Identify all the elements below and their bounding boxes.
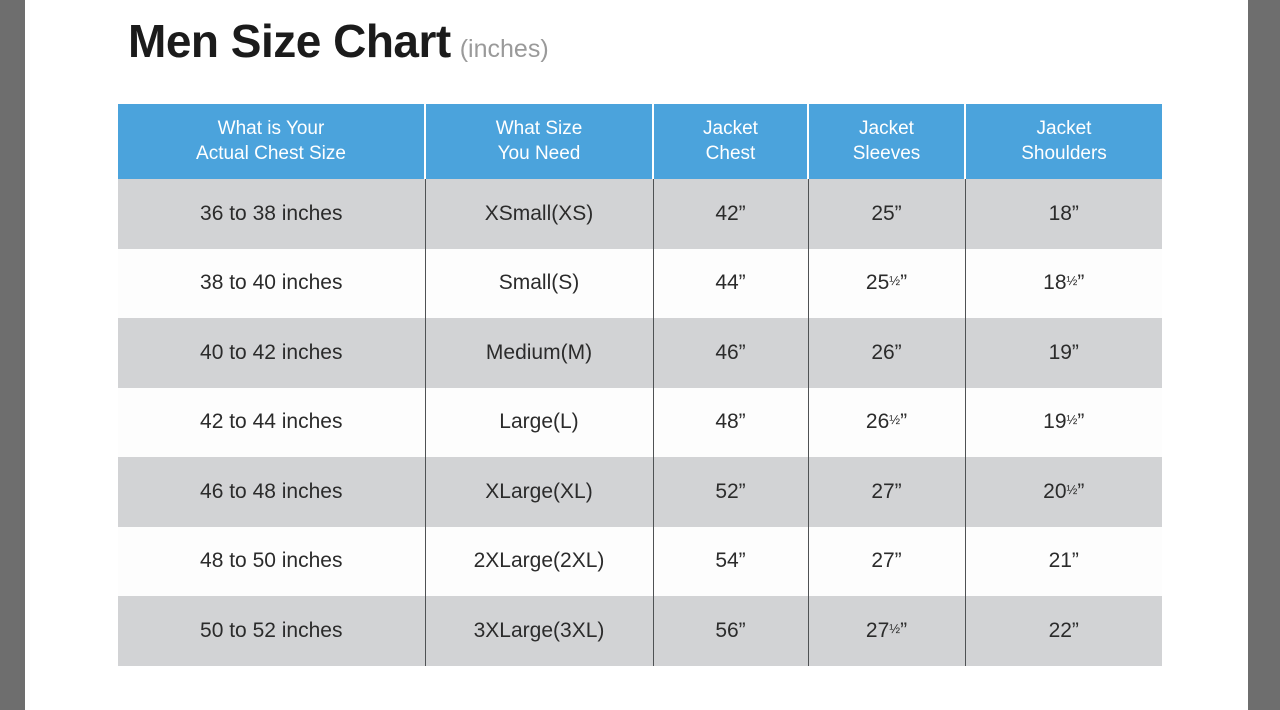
cell-jacket-sleeves: 27” (808, 457, 965, 527)
cell-jacket-shoulders: 20½” (965, 457, 1162, 527)
column-header-line1: Jacket (658, 116, 803, 141)
cell-jacket-shoulders: 18” (965, 179, 1162, 249)
column-header-size-you-need: What Size You Need (425, 104, 653, 179)
cell-jacket-sleeves: 25” (808, 179, 965, 249)
cell-size-name: 2XLarge(2XL) (425, 527, 653, 597)
cell-jacket-chest: 42” (653, 179, 808, 249)
table-row: 46 to 48 inches XLarge(XL) 52” 27” 20½” (118, 457, 1162, 527)
cell-chest-size: 46 to 48 inches (118, 457, 425, 527)
column-header-line2: Chest (658, 141, 803, 166)
column-header-line1: Jacket (970, 116, 1158, 141)
cell-jacket-sleeves: 25½” (808, 249, 965, 319)
cell-size-name: XLarge(XL) (425, 457, 653, 527)
cell-jacket-shoulders: 18½” (965, 249, 1162, 319)
table-row: 50 to 52 inches 3XLarge(3XL) 56” 27½” 22… (118, 596, 1162, 666)
cell-size-name: Large(L) (425, 388, 653, 458)
cell-jacket-sleeves: 27½” (808, 596, 965, 666)
table-row: 36 to 38 inches XSmall(XS) 42” 25” 18” (118, 179, 1162, 249)
column-header-line1: What Size (430, 116, 648, 141)
column-header-line2: You Need (430, 141, 648, 166)
cell-jacket-shoulders: 19” (965, 318, 1162, 388)
letterbox-band-left (0, 0, 25, 710)
cell-jacket-chest: 46” (653, 318, 808, 388)
cell-chest-size: 42 to 44 inches (118, 388, 425, 458)
cell-jacket-chest: 54” (653, 527, 808, 597)
cell-chest-size: 36 to 38 inches (118, 179, 425, 249)
column-header-line2: Sleeves (813, 141, 960, 166)
cell-size-name: Small(S) (425, 249, 653, 319)
cell-jacket-sleeves: 27” (808, 527, 965, 597)
column-header-line2: Shoulders (970, 141, 1158, 166)
table-header-row: What is Your Actual Chest Size What Size… (118, 104, 1162, 179)
column-header-line1: What is Your (122, 116, 420, 141)
cell-jacket-sleeves: 26½” (808, 388, 965, 458)
column-header-jacket-chest: Jacket Chest (653, 104, 808, 179)
cell-chest-size: 50 to 52 inches (118, 596, 425, 666)
column-header-line1: Jacket (813, 116, 960, 141)
cell-size-name: XSmall(XS) (425, 179, 653, 249)
chart-canvas: Men Size Chart (inches) What is Your Act… (25, 0, 1248, 710)
page-title-main: Men Size Chart (128, 18, 451, 64)
page-title: Men Size Chart (inches) (128, 18, 549, 64)
table-row: 42 to 44 inches Large(L) 48” 26½” 19½” (118, 388, 1162, 458)
cell-jacket-chest: 56” (653, 596, 808, 666)
table-header: What is Your Actual Chest Size What Size… (118, 104, 1162, 179)
screen: Men Size Chart (inches) What is Your Act… (0, 0, 1280, 710)
letterbox-band-right (1248, 0, 1280, 710)
cell-jacket-chest: 48” (653, 388, 808, 458)
cell-jacket-chest: 52” (653, 457, 808, 527)
cell-jacket-chest: 44” (653, 249, 808, 319)
table-row: 48 to 50 inches 2XLarge(2XL) 54” 27” 21” (118, 527, 1162, 597)
cell-jacket-shoulders: 22” (965, 596, 1162, 666)
column-header-actual-chest-size: What is Your Actual Chest Size (118, 104, 425, 179)
cell-size-name: 3XLarge(3XL) (425, 596, 653, 666)
cell-jacket-sleeves: 26” (808, 318, 965, 388)
cell-chest-size: 40 to 42 inches (118, 318, 425, 388)
cell-size-name: Medium(M) (425, 318, 653, 388)
table-row: 38 to 40 inches Small(S) 44” 25½” 18½” (118, 249, 1162, 319)
cell-jacket-shoulders: 19½” (965, 388, 1162, 458)
table-row: 40 to 42 inches Medium(M) 46” 26” 19” (118, 318, 1162, 388)
cell-chest-size: 48 to 50 inches (118, 527, 425, 597)
column-header-jacket-sleeves: Jacket Sleeves (808, 104, 965, 179)
table-body: 36 to 38 inches XSmall(XS) 42” 25” 18” 3… (118, 179, 1162, 666)
cell-jacket-shoulders: 21” (965, 527, 1162, 597)
size-chart-table: What is Your Actual Chest Size What Size… (118, 104, 1162, 666)
column-header-line2: Actual Chest Size (122, 141, 420, 166)
cell-chest-size: 38 to 40 inches (118, 249, 425, 319)
column-header-jacket-shoulders: Jacket Shoulders (965, 104, 1162, 179)
page-title-units: (inches) (460, 37, 549, 62)
